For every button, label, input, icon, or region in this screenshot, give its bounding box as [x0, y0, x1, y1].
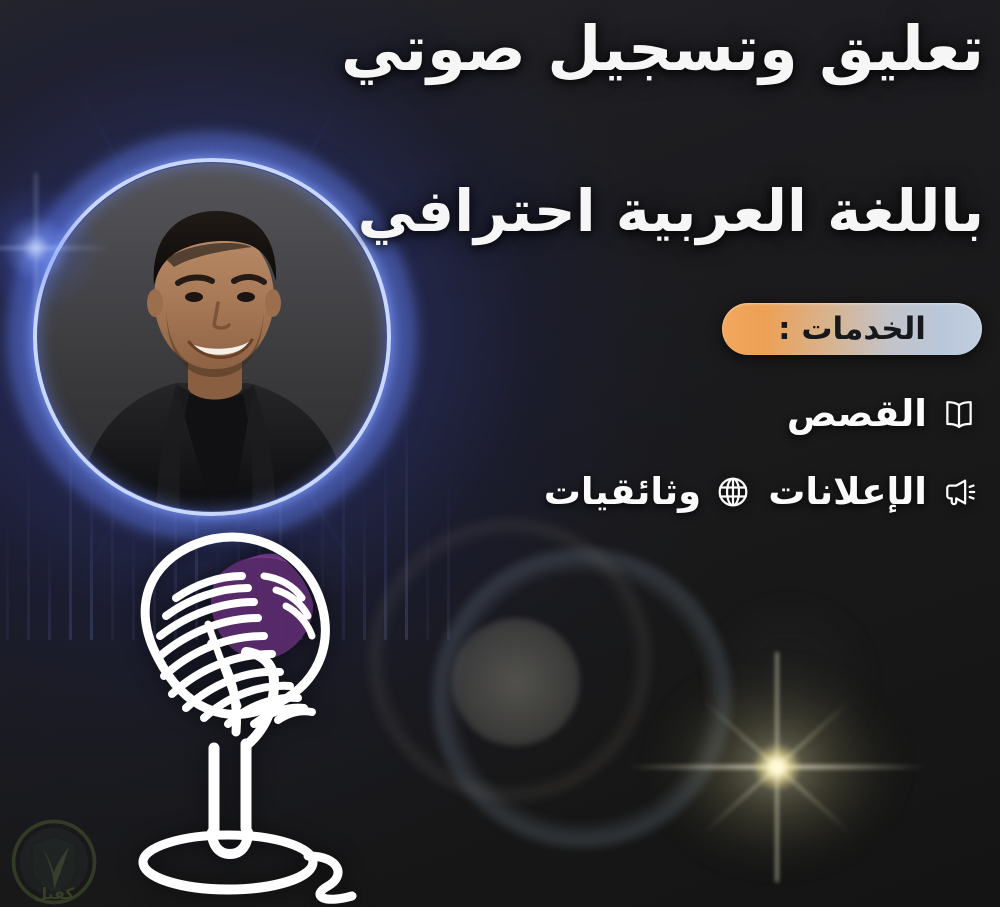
- poster-canvas: تعليق وتسجيل صوتي باللغة العربية احترافي…: [0, 0, 1000, 907]
- equalizer-bar: [447, 410, 450, 640]
- service-label-ads: الإعلانات: [768, 470, 927, 513]
- equalizer-bar: [48, 520, 51, 640]
- services-row-ads-docs: الإعلانات وثائقيات: [544, 470, 978, 513]
- service-item-documentaries: وثائقيات: [544, 470, 753, 513]
- globe-icon: [714, 473, 752, 511]
- service-item-ads: الإعلانات: [768, 470, 978, 513]
- watermark-text: كفيل: [34, 884, 76, 903]
- services-badge: الخدمات :: [722, 303, 982, 355]
- lens-flare-left: [0, 178, 106, 318]
- equalizer-bar: [426, 470, 429, 640]
- services-badge-label: الخدمات :: [778, 314, 926, 345]
- megaphone-icon: [940, 473, 978, 511]
- equalizer-bar: [6, 460, 9, 640]
- headline-secondary: باللغة العربية احترافي: [358, 175, 984, 248]
- microphone-illustration: [96, 532, 396, 904]
- service-label-documentaries: وثائقيات: [544, 470, 702, 513]
- headline-primary: تعليق وتسجيل صوتي: [341, 10, 984, 88]
- service-item-stories: القصص: [787, 392, 978, 435]
- open-book-icon: [940, 395, 978, 433]
- services-row-stories: القصص: [787, 392, 978, 435]
- service-label-stories: القصص: [787, 392, 927, 435]
- watermark-logo: كفيل: [8, 816, 100, 907]
